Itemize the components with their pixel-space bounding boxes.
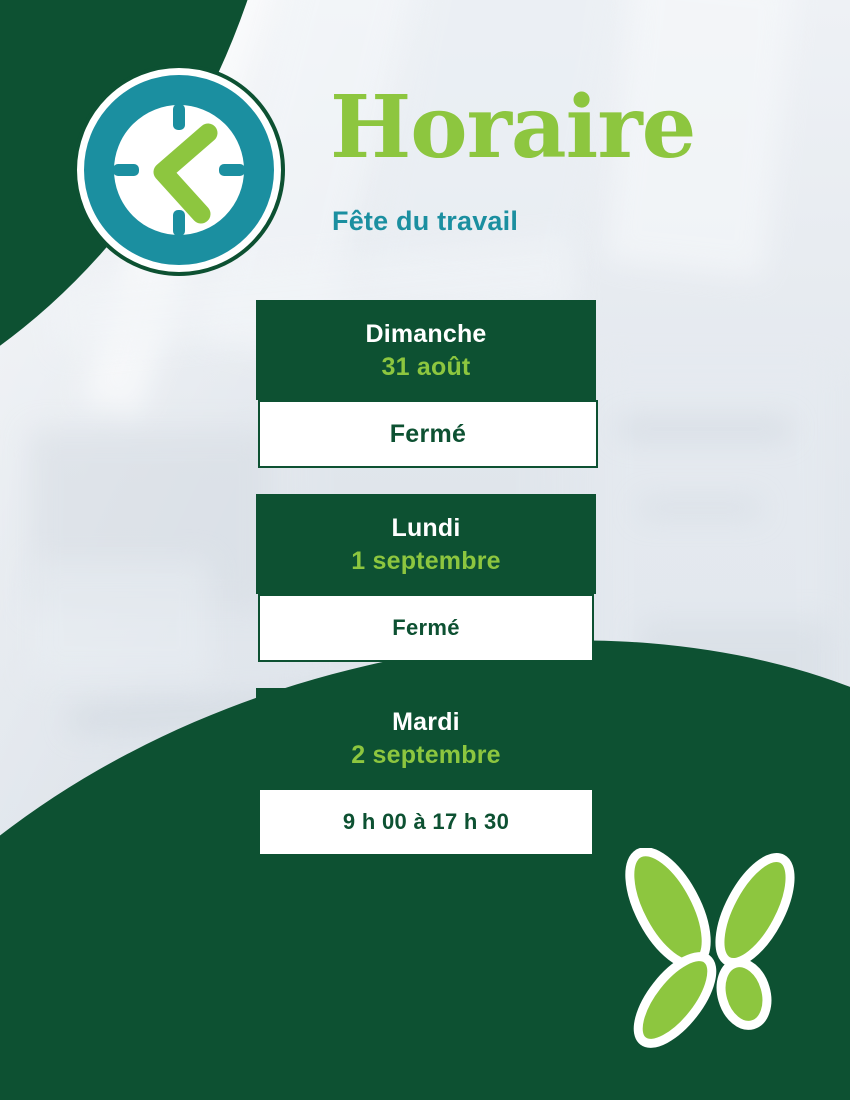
schedule-date: 31 août — [266, 351, 586, 384]
schedule-card: Dimanche 31 août Fermé — [256, 300, 596, 468]
schedule-card: Mardi 2 septembre 9 h 00 à 17 h 30 — [256, 688, 596, 856]
schedule-hours: Fermé — [390, 420, 467, 449]
page-title: Horaire — [330, 85, 695, 171]
schedule-list: Dimanche 31 août Fermé Lundi 1 septembre… — [256, 300, 596, 882]
schedule-day: Dimanche — [266, 318, 586, 351]
schedule-card-header: Dimanche 31 août — [256, 300, 596, 400]
schedule-card-body: Fermé — [258, 400, 598, 468]
clock-icon — [71, 62, 287, 278]
schedule-day: Lundi — [266, 512, 586, 545]
schedule-hours: 9 h 00 à 17 h 30 — [343, 809, 509, 835]
schedule-date: 2 septembre — [266, 739, 586, 772]
schedule-card-body: 9 h 00 à 17 h 30 — [258, 788, 594, 856]
schedule-card-header: Lundi 1 septembre — [256, 494, 596, 594]
butterfly-logo — [613, 848, 808, 1048]
schedule-day: Mardi — [266, 706, 586, 739]
page-subtitle: Fête du travail — [332, 206, 518, 237]
schedule-date: 1 septembre — [266, 545, 586, 578]
schedule-poster: Horaire Fête du travail Dimanche 31 août… — [0, 0, 850, 1100]
schedule-card: Lundi 1 septembre Fermé — [256, 494, 596, 662]
schedule-hours: Fermé — [392, 615, 460, 641]
schedule-card-body: Fermé — [258, 594, 594, 662]
schedule-card-header: Mardi 2 septembre — [256, 688, 596, 788]
